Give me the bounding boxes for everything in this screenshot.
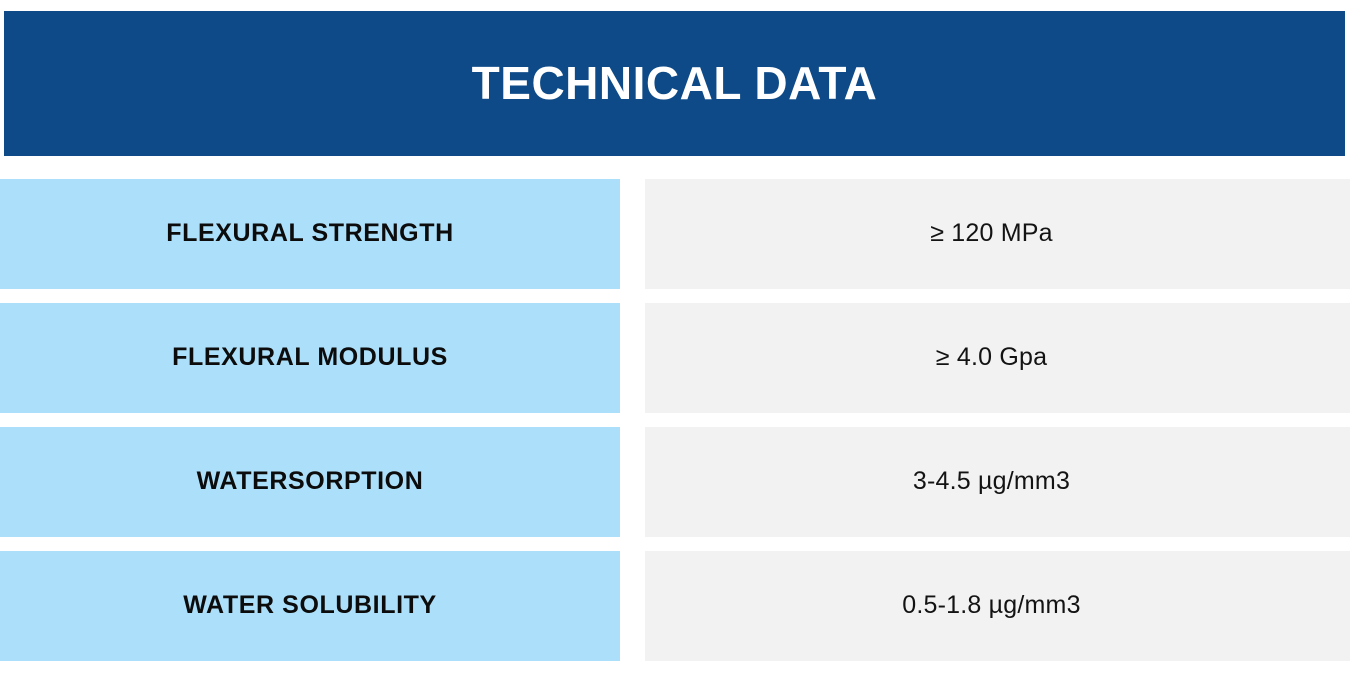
table-row: FLEXURAL STRENGTH ≥ 120 MPa [0, 179, 1350, 289]
property-label: FLEXURAL MODULUS [172, 344, 448, 372]
property-label: FLEXURAL STRENGTH [166, 220, 454, 248]
property-value-cell: 0.5-1.8 µg/mm3 [645, 551, 1350, 661]
property-label-cell: FLEXURAL MODULUS [0, 303, 620, 413]
page-title: TECHNICAL DATA [472, 60, 878, 106]
technical-data-table: FLEXURAL STRENGTH ≥ 120 MPa FLEXURAL MOD… [0, 179, 1350, 675]
property-value: ≥ 4.0 Gpa [936, 344, 1047, 372]
property-label-cell: WATER SOLUBILITY [0, 551, 620, 661]
property-value-cell: ≥ 120 MPa [645, 179, 1350, 289]
property-value: ≥ 120 MPa [930, 220, 1053, 248]
property-value: 0.5-1.8 µg/mm3 [902, 592, 1080, 620]
property-label: WATERSORPTION [197, 468, 424, 496]
header-banner: TECHNICAL DATA [4, 11, 1345, 156]
table-row: FLEXURAL MODULUS ≥ 4.0 Gpa [0, 303, 1350, 413]
table-row: WATERSORPTION 3-4.5 µg/mm3 [0, 427, 1350, 537]
property-label-cell: WATERSORPTION [0, 427, 620, 537]
table-row: WATER SOLUBILITY 0.5-1.8 µg/mm3 [0, 551, 1350, 661]
technical-data-page: TECHNICAL DATA FLEXURAL STRENGTH ≥ 120 M… [0, 0, 1350, 683]
property-label: WATER SOLUBILITY [183, 592, 437, 620]
property-value: 3-4.5 µg/mm3 [913, 468, 1070, 496]
property-label-cell: FLEXURAL STRENGTH [0, 179, 620, 289]
property-value-cell: 3-4.5 µg/mm3 [645, 427, 1350, 537]
property-value-cell: ≥ 4.0 Gpa [645, 303, 1350, 413]
